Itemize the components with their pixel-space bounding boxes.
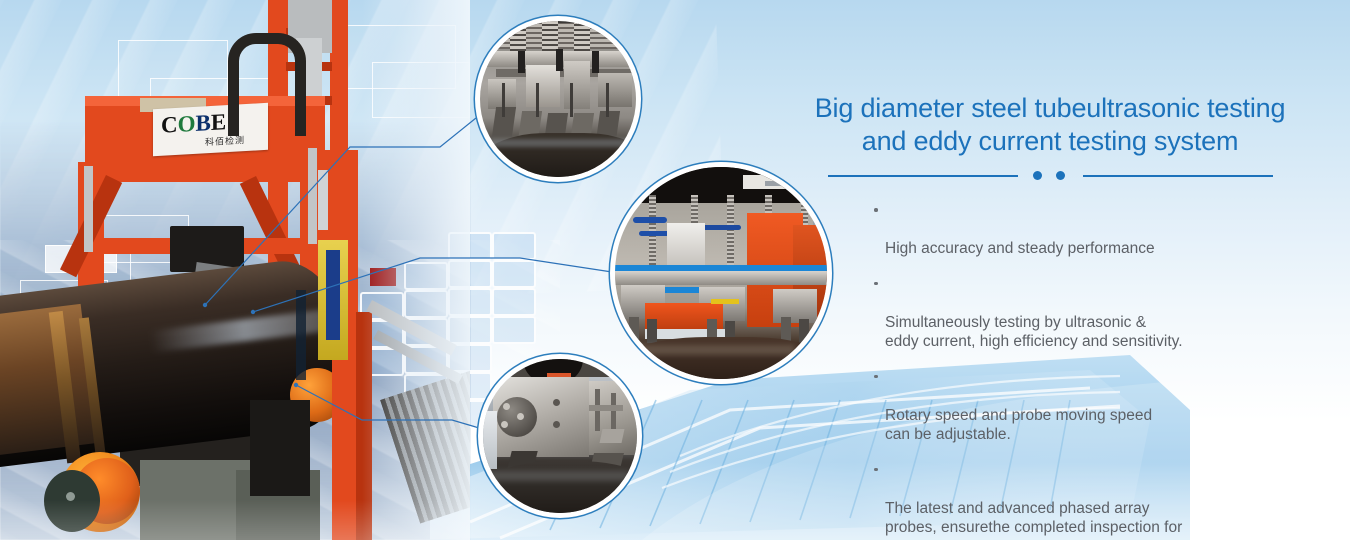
list-item: Rotary speed and probe moving speed can … [885,367,1320,445]
feature-text: Simultaneously testing by ultrasonic & e… [885,314,1183,351]
feature-text: High accuracy and steady performance [885,240,1155,257]
list-item: The latest and advanced phased array pro… [885,460,1320,540]
divider-dot-1 [1033,171,1042,180]
logo-letter-c: C [161,112,178,138]
logo-letter-b: B [196,110,211,136]
list-item: Simultaneously testing by ultrasonic & e… [885,274,1320,352]
divider-dot-2 [1056,171,1065,180]
product-banner: COBE 科佰检测 [0,0,1350,540]
ultrasonic-probe-array-photo [480,21,636,177]
bullet-dot-icon [874,208,878,212]
probe-head-on-tube-photo [483,359,637,513]
bullet-dot-icon [874,375,878,379]
feature-text: The latest and advanced phased array pro… [885,500,1182,540]
feature-text: Rotary speed and probe moving speed can … [885,407,1152,444]
title-divider [828,169,1273,183]
cable-chain [228,33,306,136]
inset-circle-ultrasonic-probe-array-detail[interactable] [475,16,641,182]
page-title: Big diameter steel tubeultrasonic testin… [780,92,1320,158]
divider-line-left [828,175,1018,177]
feature-list: High accuracy and steady performance Sim… [780,200,1320,540]
inspection-machine-photo: COBE 科佰检测 [0,0,470,540]
inset-circle-probe-head-on-tube[interactable] [478,354,642,518]
logo-letter-o: O [178,111,196,137]
list-item: High accuracy and steady performance [885,200,1320,259]
logo-letter-e: E [211,109,226,135]
bullet-dot-icon [874,282,878,286]
bullet-dot-icon [874,468,878,472]
divider-line-right [1083,175,1273,177]
text-panel: Big diameter steel tubeultrasonic testin… [780,92,1320,540]
